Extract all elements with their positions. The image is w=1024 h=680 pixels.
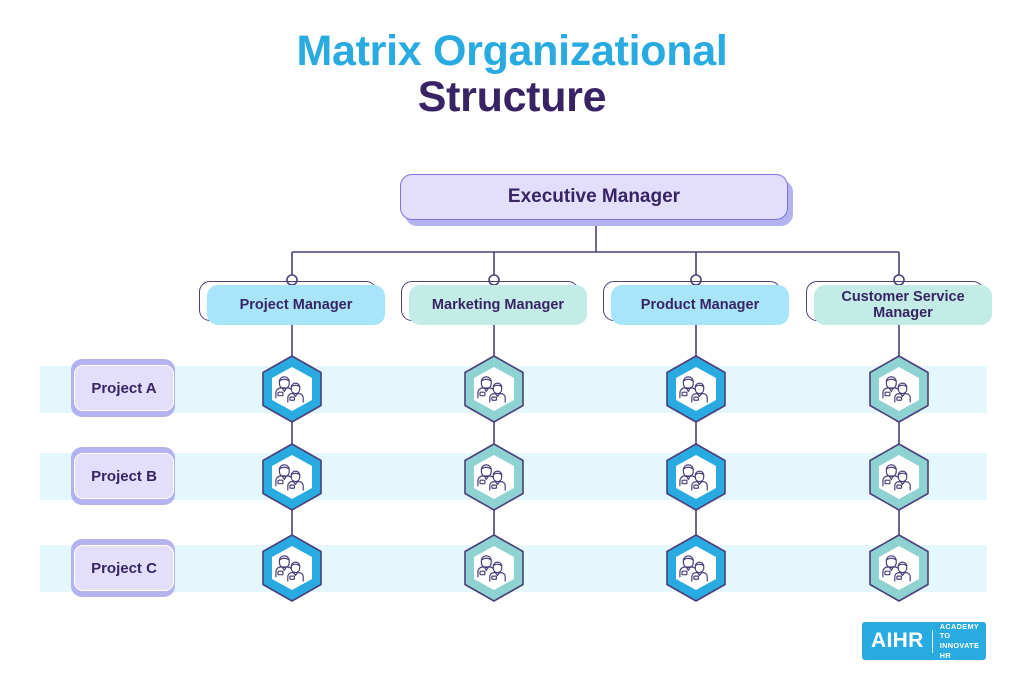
project-box: Project C xyxy=(74,545,174,591)
project-box: Project A xyxy=(74,365,174,411)
team-hexagon[interactable] xyxy=(259,354,325,424)
team-people-icon xyxy=(866,533,932,603)
team-people-icon xyxy=(461,442,527,512)
logo-tagline: ACADEMY TO INNOVATE HR xyxy=(940,622,986,661)
node-manager-project[interactable]: Project Manager xyxy=(199,285,385,325)
team-people-icon xyxy=(461,533,527,603)
manager-label: Project Manager xyxy=(240,297,353,313)
node-project-b[interactable]: Project B xyxy=(71,453,179,513)
manager-label: Marketing Manager xyxy=(432,297,564,313)
node-manager-product[interactable]: Product Manager xyxy=(603,285,789,325)
logo-tagline-line-1: ACADEMY TO xyxy=(940,622,986,641)
executive-label: Executive Manager xyxy=(508,186,680,208)
team-hexagon[interactable] xyxy=(259,442,325,512)
page-title: Matrix Organizational Structure xyxy=(0,28,1024,121)
manager-box: Customer Service Manager xyxy=(814,285,992,325)
logo-tagline-line-2: INNOVATE HR xyxy=(940,641,986,660)
team-people-icon xyxy=(663,442,729,512)
team-hexagon[interactable] xyxy=(461,533,527,603)
title-line-1: Matrix Organizational xyxy=(0,28,1024,74)
logo-wordmark: AIHR xyxy=(871,629,924,653)
manager-label: Product Manager xyxy=(641,297,759,313)
team-people-icon xyxy=(663,533,729,603)
project-label: Project C xyxy=(91,560,157,577)
team-hexagon[interactable] xyxy=(663,442,729,512)
team-people-icon xyxy=(866,354,932,424)
logo-divider xyxy=(932,630,933,653)
team-people-icon xyxy=(259,354,325,424)
manager-box: Marketing Manager xyxy=(409,285,587,325)
team-hexagon[interactable] xyxy=(866,354,932,424)
team-hexagon[interactable] xyxy=(866,533,932,603)
team-hexagon[interactable] xyxy=(259,533,325,603)
manager-box: Project Manager xyxy=(207,285,385,325)
title-line-2: Structure xyxy=(0,74,1024,120)
manager-label: Customer Service Manager xyxy=(820,289,986,321)
node-project-c[interactable]: Project C xyxy=(71,545,179,605)
manager-box: Product Manager xyxy=(611,285,789,325)
team-people-icon xyxy=(461,354,527,424)
executive-box: Executive Manager xyxy=(400,174,788,220)
team-hexagon[interactable] xyxy=(461,354,527,424)
aihr-logo: AIHR ACADEMY TO INNOVATE HR xyxy=(862,622,986,660)
node-executive-manager[interactable]: Executive Manager xyxy=(400,174,793,226)
diagram-canvas: Matrix Organizational Structure xyxy=(0,0,1024,680)
team-hexagon[interactable] xyxy=(461,442,527,512)
node-manager-marketing[interactable]: Marketing Manager xyxy=(401,285,587,325)
team-people-icon xyxy=(259,533,325,603)
team-hexagon[interactable] xyxy=(663,533,729,603)
team-people-icon xyxy=(259,442,325,512)
node-project-a[interactable]: Project A xyxy=(71,365,179,425)
team-hexagon[interactable] xyxy=(663,354,729,424)
project-box: Project B xyxy=(74,453,174,499)
team-hexagon[interactable] xyxy=(866,442,932,512)
project-label: Project B xyxy=(91,468,157,485)
project-label: Project A xyxy=(91,380,156,397)
node-manager-customer-service[interactable]: Customer Service Manager xyxy=(806,285,992,325)
team-people-icon xyxy=(663,354,729,424)
team-people-icon xyxy=(866,442,932,512)
